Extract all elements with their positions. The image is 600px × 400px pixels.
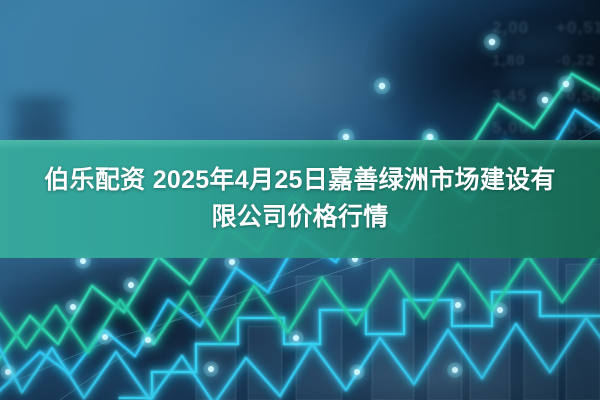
banner-image: 2,00 +0,51 1,80 -0,22 3,45 +0,50 5,00 +0… <box>0 0 600 400</box>
chart-node <box>497 307 503 313</box>
chart-node <box>354 369 360 375</box>
chart-node <box>229 259 235 265</box>
chart-node <box>208 366 214 372</box>
title-line-1: 伯乐配资 2025年4月25日嘉善绿洲市场建设有 <box>44 162 555 199</box>
chart-node <box>489 39 495 45</box>
chart-node <box>145 337 151 343</box>
chart-node <box>70 304 76 310</box>
chart-node <box>128 282 134 288</box>
title-line-2: 限公司价格行情 <box>211 199 388 236</box>
chart-node <box>293 335 299 341</box>
chart-node <box>80 258 86 264</box>
chart-node <box>102 334 108 340</box>
chart-node <box>455 302 461 308</box>
page-title: 伯乐配资 2025年4月25日嘉善绿洲市场建设有 限公司价格行情 <box>0 140 600 258</box>
chart-node <box>542 97 548 103</box>
chart-node <box>563 81 569 87</box>
chart-node <box>452 367 458 373</box>
chart-node <box>379 83 385 89</box>
chart-node <box>5 369 11 375</box>
